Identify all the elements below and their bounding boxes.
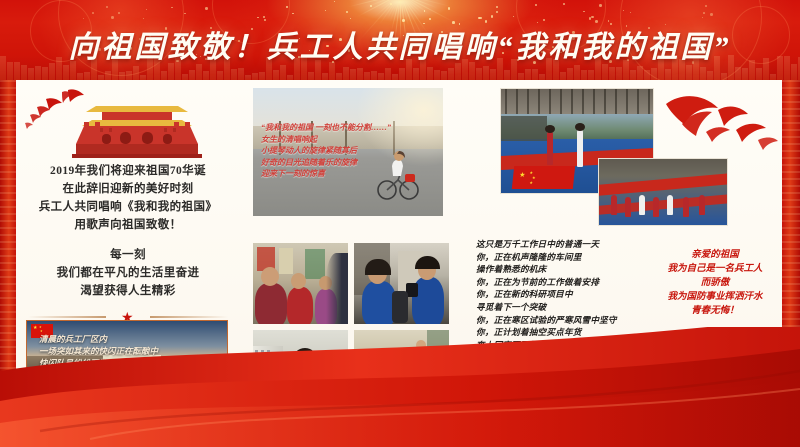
red-line: 青春无悔！: [645, 304, 785, 318]
photo-girl-waving-flag: 我和我的祖国: [354, 330, 449, 411]
red-line: 亲爱的祖国: [645, 248, 785, 262]
left-red-edge: [0, 80, 16, 447]
body-line: 操作着熟悉的机床: [476, 263, 648, 276]
tiananmen-gate-icon: [62, 92, 212, 158]
lead-line: 兵工人共同唱响《我和我的祖国》: [18, 198, 238, 216]
body-line: ……: [476, 351, 648, 364]
photo-caption-text: 清晨的兵工厂区内 一场突如其来的快闪正在酝酿中 快闪队员纷纷开始行动: [39, 333, 221, 369]
red-line: 繁荣昌盛: [645, 360, 785, 374]
cyclist-photo-caption: “我和我的祖国 一刻也不能分割……” 女生的清唱响起 小提琴动人的旋律紧随其后 …: [261, 122, 429, 180]
right-red-text: 亲爱的祖国 我为自己是一名兵工人 而骄傲 我为国防事业挥洒汗水 青春无悔！ 只为…: [645, 248, 785, 374]
photo-workers-blue-uniform: [354, 243, 449, 324]
poster-canvas: 向祖国致敬！兵工人共同唱响“我和我的祖国”: [0, 0, 800, 447]
body-line: 这只是万千工作日中的普通一天: [476, 238, 648, 251]
body-line: 千万个平凡执着的我们聚合在一起: [476, 364, 648, 377]
photo-factory-campus: ★ ★ ★ 清晨的兵工厂区内 一场突如其来的快闪正在酝酿中 快闪队员纷纷开始行动: [26, 320, 228, 384]
lead-line: 我们都在平凡的生活里奋进: [18, 264, 238, 282]
body-line: 你，正计划着抽空买点年货: [476, 326, 648, 339]
body-line: 你，正在机声隆隆的车间里: [476, 251, 648, 264]
header-banner: 向祖国致敬！兵工人共同唱响“我和我的祖国”: [0, 0, 800, 80]
body-line: 奔上回家团圆的归途: [476, 339, 648, 352]
lead-line: 用歌声向祖国致敬！: [18, 216, 238, 234]
lead-line: 在此辞旧迎新的美好时刻: [18, 180, 238, 198]
left-column: 2019年我们将迎来祖国70华诞 在此辞旧迎新的美好时刻 兵工人共同唱响《我和我…: [18, 86, 238, 324]
flag-carpet: ★ ★ ★ ★: [512, 166, 575, 189]
caption-line: 女生的清唱响起: [261, 134, 429, 146]
lead-line: 渴望获得人生精彩: [18, 282, 238, 300]
photo-grid: 我和我的祖国: [253, 243, 449, 411]
caption-line: 迎来下一刻的惊喜: [261, 168, 429, 180]
caption-line: 快闪队员纷纷开始行动: [39, 357, 221, 369]
caption-line: 一场突如其来的快闪正在酝酿中: [39, 345, 221, 357]
caption-line: 小提琴动人的旋律紧随其后: [261, 145, 429, 157]
red-doves-icon: [660, 86, 790, 158]
body-line: 寻觅着下一个突破: [476, 301, 648, 314]
caption-line: “我和我的祖国 一刻也不能分割……”: [261, 122, 429, 134]
red-line: 我为国防事业挥洒汗水: [645, 290, 785, 304]
caption-line: 好奇的目光追随着乐的旋律: [261, 157, 429, 169]
red-line: 我为自己是一名兵工人: [645, 262, 785, 276]
photo-hall-performers: [598, 158, 728, 226]
body-line: 你，正在新的科研项目中: [476, 288, 648, 301]
red-line: 而骄傲: [645, 276, 785, 290]
red-line: 国泰民安: [645, 346, 785, 360]
body-line: 你，正在为节前的工作做着安排: [476, 276, 648, 289]
main-body-text: 这只是万千工作日中的普通一天 你，正在机声隆隆的车间里 操作着熟悉的机床 你，正…: [476, 238, 648, 402]
lead-line: 2019年我们将迎来祖国70华诞: [18, 162, 238, 180]
caption-line: 清晨的兵工厂区内: [39, 333, 221, 345]
photo-elderly-women-singing: [253, 243, 348, 324]
photo-cyclist-road: “我和我的祖国 一刻也不能分割……” 女生的清唱响起 小提琴动人的旋律紧随其后 …: [253, 88, 443, 216]
lead-line: 每一刻: [18, 246, 238, 264]
lead-paragraph: 2019年我们将迎来祖国70华诞 在此辞旧迎新的美好时刻 兵工人共同唱响《我和我…: [18, 162, 238, 300]
photo-worker-with-flag: [253, 330, 348, 411]
body-line: 你，正在寒区试验的严寒风雪中坚守: [476, 314, 648, 327]
gate-illustration: [18, 86, 238, 158]
body-line: 是兵工人对“铸国防利剑”: [476, 377, 648, 390]
page-title: 向祖国致敬！兵工人共同唱响“我和我的祖国”: [0, 22, 800, 66]
body-line: 不变的初心和坚守: [476, 389, 648, 402]
red-line: 只为您: [645, 332, 785, 346]
